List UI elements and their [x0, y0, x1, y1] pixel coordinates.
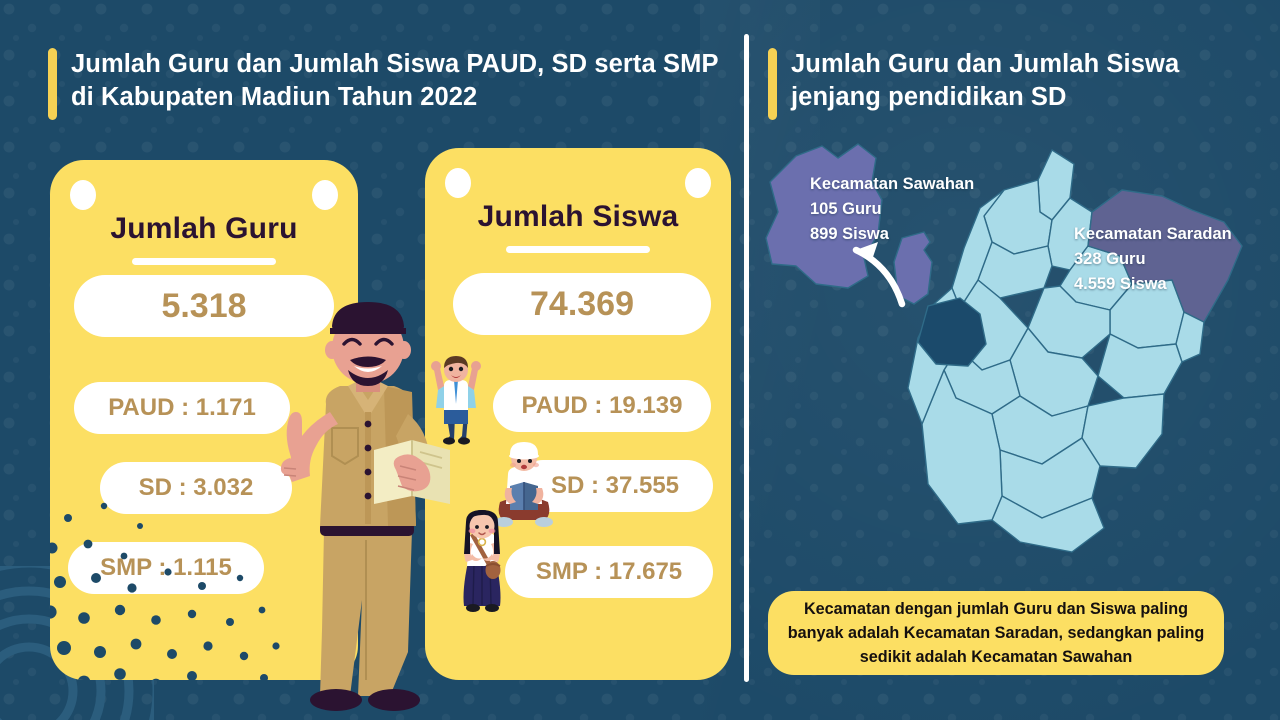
map-annotation-sawahan: Kecamatan Sawahan 105 Guru 899 Siswa: [810, 172, 974, 247]
stat-card-siswa: Jumlah Siswa 74.369 PAUD : 19.139 SD : 3…: [425, 148, 731, 680]
vertical-divider: [744, 34, 749, 682]
conclusion-callout: Kecamatan dengan jumlah Guru dan Siswa p…: [768, 591, 1224, 675]
infographic-canvas: Jumlah Guru dan Jumlah Siswa PAUD, SD se…: [0, 0, 1280, 720]
card-title-guru: Jumlah Guru: [50, 212, 358, 246]
card-punch-hole-left: [70, 180, 96, 210]
heading-accent-bar: [48, 48, 57, 120]
saradan-student-count: 4.559 Siswa: [1074, 272, 1232, 297]
siswa-sd-value: SD : 37.555: [517, 460, 713, 512]
siswa-total-value: 74.369: [453, 273, 711, 335]
guru-paud-value: PAUD : 1.171: [74, 382, 290, 434]
sawahan-student-count: 899 Siswa: [810, 222, 974, 247]
left-title-text: Jumlah Guru dan Jumlah Siswa PAUD, SD se…: [71, 48, 738, 114]
siswa-paud-value: PAUD : 19.139: [493, 380, 711, 432]
card-punch-hole-left: [445, 168, 471, 198]
conclusion-text: Kecamatan dengan jumlah Guru dan Siswa p…: [782, 597, 1210, 669]
guru-total-value: 5.318: [74, 275, 334, 337]
card-punch-hole-right: [312, 180, 338, 210]
saradan-district-name: Kecamatan Saradan: [1074, 222, 1232, 247]
left-section-heading: Jumlah Guru dan Jumlah Siswa PAUD, SD se…: [48, 48, 738, 120]
sawahan-teacher-count: 105 Guru: [810, 197, 974, 222]
map-annotation-saradan: Kecamatan Saradan 328 Guru 4.559 Siswa: [1074, 222, 1232, 297]
right-title-text: Jumlah Guru dan Jumlah Siswa jenjang pen…: [791, 48, 1238, 114]
card-title-underline: [132, 258, 276, 265]
card-punch-hole-right: [685, 168, 711, 198]
heading-accent-bar: [768, 48, 777, 120]
saradan-teacher-count: 328 Guru: [1074, 247, 1232, 272]
siswa-smp-value: SMP : 17.675: [505, 546, 713, 598]
card-title-underline: [506, 246, 650, 253]
card-dot-texture: [50, 460, 304, 680]
sawahan-district-name: Kecamatan Sawahan: [810, 172, 974, 197]
card-title-siswa: Jumlah Siswa: [425, 200, 731, 234]
right-section-heading: Jumlah Guru dan Jumlah Siswa jenjang pen…: [768, 48, 1238, 120]
stat-card-guru: Jumlah Guru 5.318 PAUD : 1.171 SD : 3.03…: [50, 160, 358, 680]
